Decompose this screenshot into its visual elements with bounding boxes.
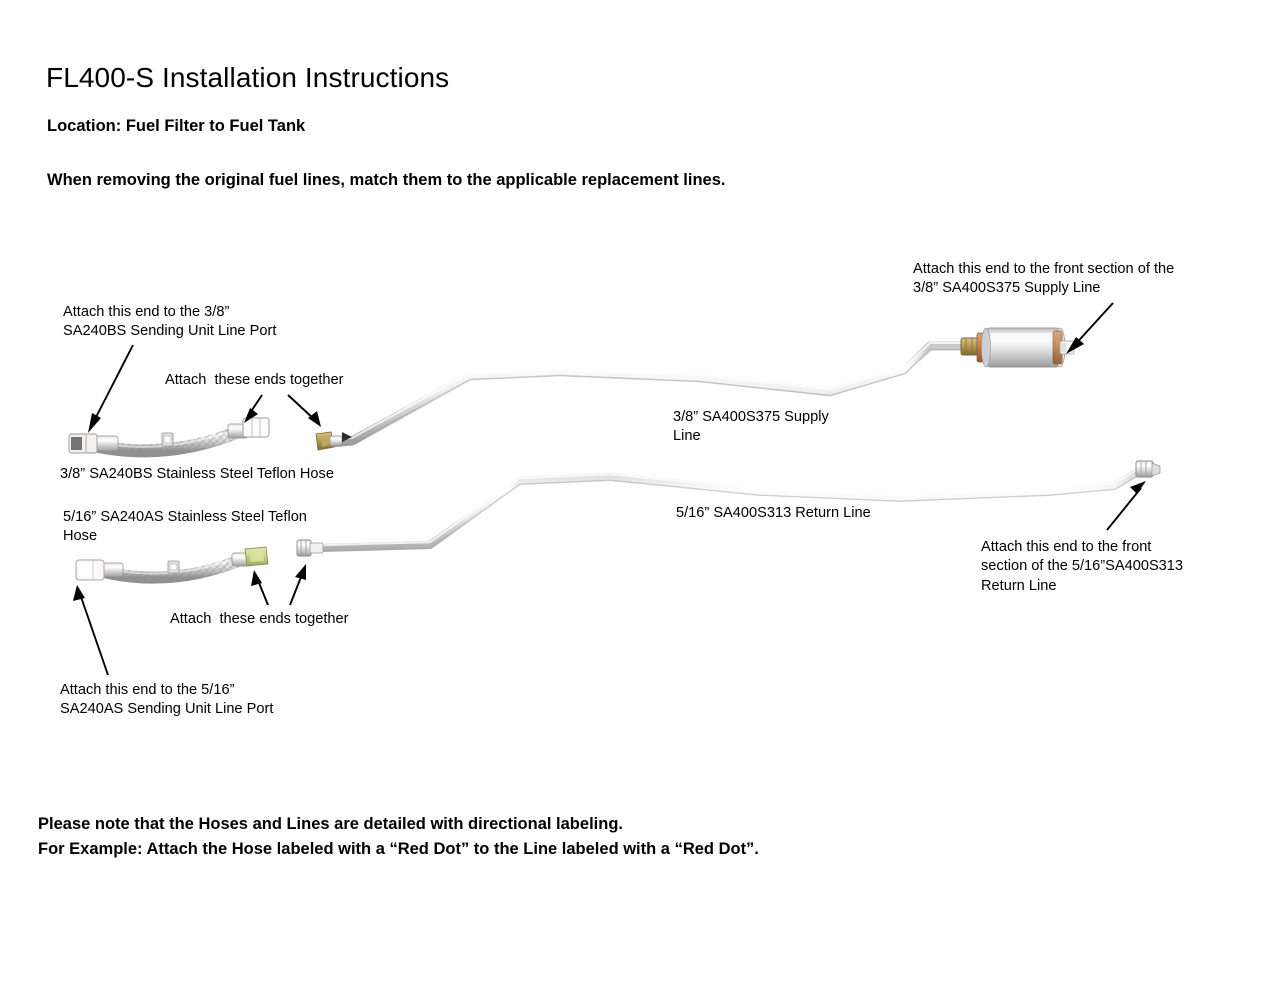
arrow-ends-top-right <box>288 395 321 427</box>
label-hose-sa240bs: 3/8” SA240BS Stainless Steel Teflon Hose <box>60 465 334 484</box>
hose-upper-right-fitting <box>228 418 269 438</box>
arrow-ends-bottom-right <box>290 564 306 605</box>
hose-lower-right-fitting <box>232 547 268 566</box>
arrow-ends-top-left <box>244 395 262 423</box>
fuel-filter-canister <box>977 328 1074 367</box>
supply-line-filter-nut <box>961 338 978 355</box>
footer-note-line1: Please note that the Hoses and Lines are… <box>38 815 623 834</box>
hose-upper-left-fitting <box>69 434 118 453</box>
annotation-return-front: Attach this end to the front section of … <box>981 538 1183 596</box>
arrow-ends-bottom-left <box>251 570 268 605</box>
annotation-ends-together-bottom: Attach these ends together <box>170 610 349 629</box>
label-return-line: 5/16” SA400S313 Return Line <box>676 504 871 523</box>
label-hose-sa240as: 5/16” SA240AS Stainless Steel Teflon Hos… <box>63 508 307 547</box>
arrow-supply-front <box>1066 303 1113 354</box>
supply-line-left-fitting <box>316 432 352 450</box>
annotation-supply-front: Attach this end to the front section of … <box>913 260 1174 299</box>
page-title: FL400-S Installation Instructions <box>46 62 449 94</box>
arrow-sending-unit-as <box>73 585 108 675</box>
annotation-ends-together-top: Attach these ends together <box>165 371 344 390</box>
arrow-return-front <box>1107 481 1146 530</box>
instruction-note: When removing the original fuel lines, m… <box>47 171 725 190</box>
annotation-sending-unit-as: Attach this end to the 5/16” SA240AS Sen… <box>60 681 273 720</box>
annotation-sending-unit-bs: Attach this end to the 3/8” SA240BS Send… <box>63 303 276 342</box>
hose-upper-sa240bs <box>69 418 269 453</box>
hose-lower-collar <box>168 561 179 573</box>
return-line-right-fitting <box>1136 461 1160 477</box>
instruction-sheet: FL400-S Installation Instructions Locati… <box>0 0 1280 989</box>
arrow-sending-unit-bs <box>88 345 133 433</box>
label-supply-line: 3/8” SA400S375 Supply Line <box>673 408 829 447</box>
hose-lower-sa240as <box>76 547 268 580</box>
footer-note-line2: For Example: Attach the Hose labeled wit… <box>38 840 759 859</box>
hose-upper-collar <box>162 433 173 446</box>
location-subtitle: Location: Fuel Filter to Fuel Tank <box>47 117 305 136</box>
supply-line-sa400s375 <box>316 338 978 450</box>
hose-lower-left-fitting <box>76 560 123 580</box>
